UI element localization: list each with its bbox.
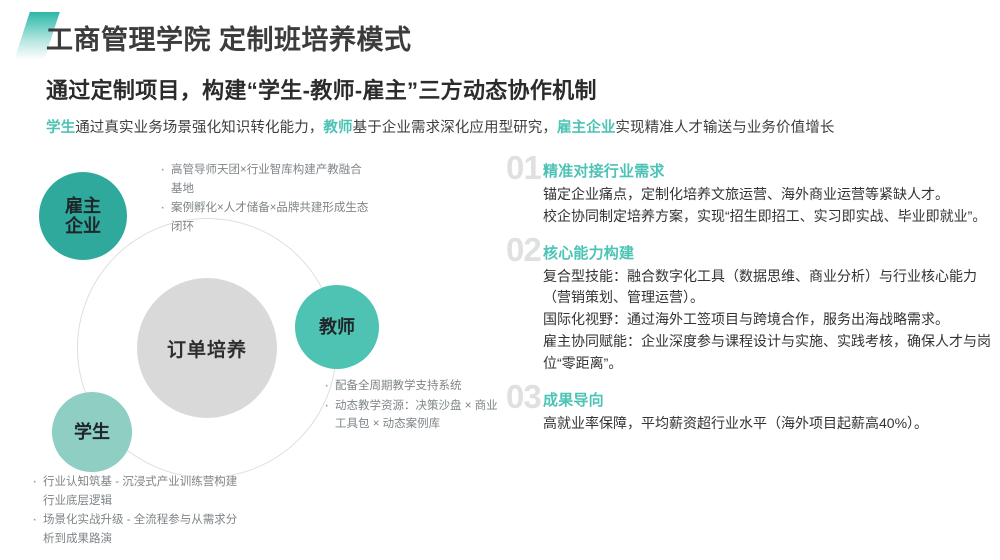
node-employer-label: 雇主企业 <box>65 196 101 236</box>
triad-circle-diagram: 订单培养 雇主企业 教师 学生 高管导师天团×行业智库构建产教融合基地 案例孵化… <box>0 155 500 560</box>
point-text: 锚定企业痛点，定制化培养文旅运营、海外商业运营等紧缺人才。 校企协同制定培养方案… <box>543 184 994 228</box>
key-point-03: 03 成果导向 高就业率保障，平均薪资超行业水平（海外项目起薪高40%）。 <box>506 389 994 435</box>
point-text-line: 高就业率保障，平均薪资超行业水平（海外项目起薪高40%）。 <box>543 413 994 435</box>
list-item: 动态教学资源：决策沙盘 × 商业工具包 × 动态案例库 <box>322 397 507 434</box>
list-item: 场景化实战升级 - 全流程参与从需求分析到成果路演 <box>30 511 245 548</box>
point-heading: 核心能力构建 <box>543 242 994 263</box>
lead-highlight-student: 学生 <box>46 120 75 136</box>
lead-highlight-employer: 雇主企业 <box>557 120 615 136</box>
point-text-line: 国际化视野：通过海外工签项目与跨境合作，服务出海战略需求。 <box>543 309 994 331</box>
node-circle-employer[interactable]: 雇主企业 <box>39 172 127 260</box>
node-circle-student[interactable]: 学生 <box>52 392 132 472</box>
node-circle-teacher[interactable]: 教师 <box>295 285 379 369</box>
notes-employer: 高管导师天团×行业智库构建产教融合基地 案例孵化×人才储备×品牌共建形成生态闭环 <box>158 161 373 238</box>
key-point-02: 02 核心能力构建 复合型技能：融合数字化工具（数据思维、商业分析）与行业核心能… <box>506 242 994 375</box>
lead-segment-2: 基于企业需求深化应用型研究， <box>353 120 557 136</box>
lead-segment-1: 通过真实业务场景强化知识转化能力， <box>75 120 323 136</box>
list-item: 行业认知筑基 - 沉浸式产业训练营构建行业底层逻辑 <box>30 473 245 510</box>
key-point-01: 01 精准对接行业需求 锚定企业痛点，定制化培养文旅运营、海外商业运营等紧缺人才… <box>506 160 994 228</box>
page-title: 工商管理学院 定制班培养模式 <box>46 18 412 57</box>
lead-paragraph: 学生通过真实业务场景强化知识转化能力，教师基于企业需求深化应用型研究，雇主企业实… <box>46 116 834 137</box>
point-heading: 精准对接行业需求 <box>543 160 994 181</box>
page-subtitle: 通过定制项目，构建“学生-教师-雇主”三方动态协作机制 <box>46 73 597 105</box>
key-points-list: 01 精准对接行业需求 锚定企业痛点，定制化培养文旅运营、海外商业运营等紧缺人才… <box>506 160 994 449</box>
point-text-line: 雇主协同赋能：企业深度参与课程设计与实施、实践考核，确保人才与岗位“零距离”。 <box>543 331 994 375</box>
lead-highlight-teacher: 教师 <box>323 120 352 136</box>
list-item: 案例孵化×人才储备×品牌共建形成生态闭环 <box>158 199 373 236</box>
point-text: 复合型技能：融合数字化工具（数据思维、商业分析）与行业核心能力（营销策划、管理运… <box>543 266 994 375</box>
point-text: 高就业率保障，平均薪资超行业水平（海外项目起薪高40%）。 <box>543 413 994 435</box>
list-item: 高管导师天团×行业智库构建产教融合基地 <box>158 161 373 198</box>
notes-teacher: 配备全周期教学支持系统 动态教学资源：决策沙盘 × 商业工具包 × 动态案例库 <box>322 377 507 435</box>
node-teacher-label: 教师 <box>319 317 355 337</box>
center-circle-label: 订单培养 <box>167 335 247 362</box>
notes-student: 行业认知筑基 - 沉浸式产业训练营构建行业底层逻辑 场景化实战升级 - 全流程参… <box>30 473 245 550</box>
point-text-line: 复合型技能：融合数字化工具（数据思维、商业分析）与行业核心能力（营销策划、管理运… <box>543 266 994 310</box>
point-heading: 成果导向 <box>543 389 994 410</box>
list-item: 配备全周期教学支持系统 <box>322 377 507 396</box>
node-student-label: 学生 <box>74 422 110 442</box>
lead-segment-3: 实现精准人才输送与业务价值增长 <box>615 120 834 136</box>
point-text-line: 锚定企业痛点，定制化培养文旅运营、海外商业运营等紧缺人才。 <box>543 184 994 206</box>
center-circle: 订单培养 <box>137 278 277 418</box>
point-text-line: 校企协同制定培养方案，实现“招生即招工、实习即实战、毕业即就业”。 <box>543 206 994 228</box>
